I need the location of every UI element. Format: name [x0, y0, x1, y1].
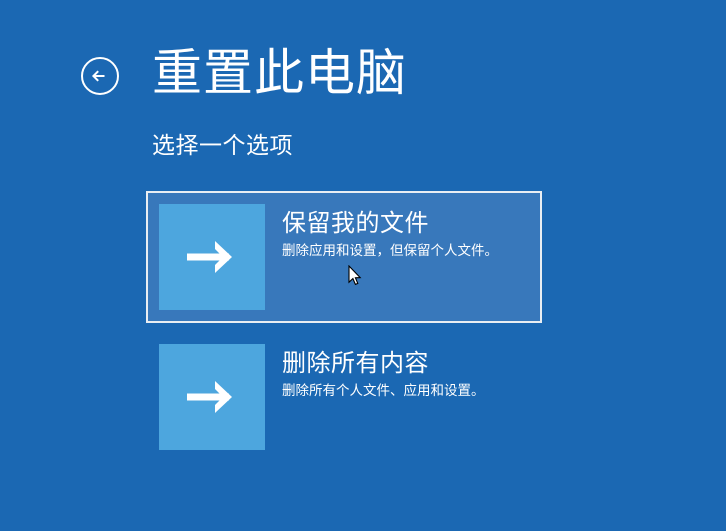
back-button[interactable]: [78, 54, 122, 98]
option-list: 保留我的文件 删除应用和设置，但保留个人文件。 删除所有内容 删除所有个人文件、…: [146, 191, 542, 471]
option-icon-tile: [159, 204, 265, 310]
arrow-right-icon: [183, 234, 241, 280]
option-text-block: 删除所有内容 删除所有个人文件、应用和设置。: [265, 344, 485, 401]
option-remove-everything[interactable]: 删除所有内容 删除所有个人文件、应用和设置。: [146, 331, 542, 463]
option-keep-my-files[interactable]: 保留我的文件 删除应用和设置，但保留个人文件。: [146, 191, 542, 323]
circled-back-arrow-icon: [79, 55, 121, 97]
option-title: 保留我的文件: [282, 208, 498, 238]
page-subtitle: 选择一个选项: [152, 133, 293, 161]
option-icon-tile: [159, 344, 265, 450]
option-description: 删除所有个人文件、应用和设置。: [282, 382, 485, 401]
reset-this-pc-screen: 重置此电脑 选择一个选项 保留我的文件 删除应用和设置，但保留个人文件。: [0, 0, 726, 531]
page-header: 重置此电脑: [78, 38, 407, 108]
option-text-block: 保留我的文件 删除应用和设置，但保留个人文件。: [265, 204, 498, 261]
arrow-right-icon: [183, 374, 241, 420]
option-title: 删除所有内容: [282, 348, 485, 378]
page-title: 重置此电脑: [152, 48, 407, 98]
option-description: 删除应用和设置，但保留个人文件。: [282, 242, 498, 261]
